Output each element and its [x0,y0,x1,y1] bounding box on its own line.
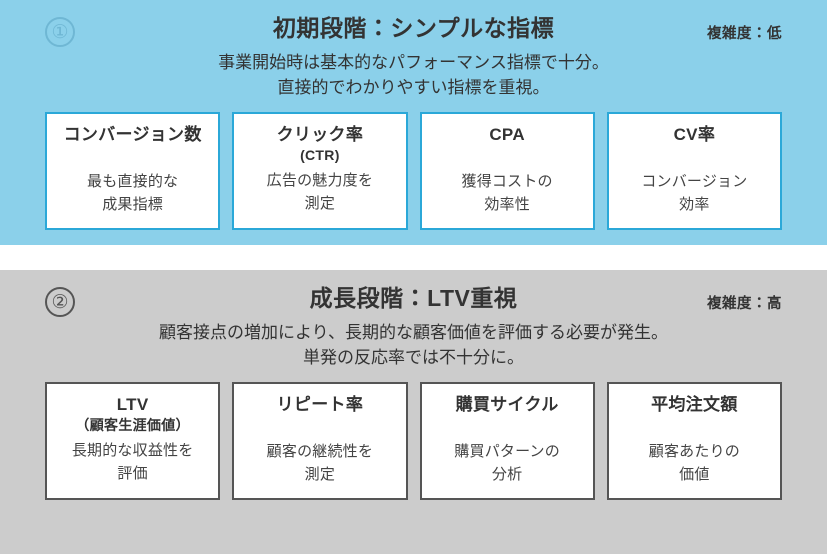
metric-card-title: コンバージョン数 [64,124,202,146]
stage-1-description: 事業開始時は基本的なパフォーマンス指標で十分。 直接的でわかりやすい指標を重視。 [0,50,827,100]
metric-card-title: 平均注文額 [651,394,738,416]
metric-card-description-line-1: 広告の魅力度を [267,169,373,192]
stage-2-card-row: LTV （顧客生涯価値） 長期的な収益性を 評価 リピート率 顧客の継続性を 測… [0,382,827,500]
stage-section-2: ② 成長段階：LTV重視 複雑度：高 顧客接点の増加により、長期的な顧客価値を評… [0,270,827,554]
metric-card-description-line-2: 測定 [267,192,373,215]
stage-1-card-row: コンバージョン数 最も直接的な 成果指標 クリック率 (CTR) 広告の魅力度を… [0,112,827,230]
stage-1-complexity-badge: 複雑度：低 [707,22,782,43]
metric-card-description-line-1: 購買パターンの [454,440,560,463]
stage-2-number-badge: ② [45,287,75,317]
metric-card-description-line-1: 獲得コストの [462,170,553,193]
metric-card-title: CV率 [674,124,716,146]
metric-card-description-line-2: 効率性 [462,193,553,216]
metric-card-description: 長期的な収益性を 評価 [72,439,194,485]
metric-card-ctr[interactable]: クリック率 (CTR) 広告の魅力度を 測定 [232,112,407,230]
metric-card-description-line-1: 長期的な収益性を [72,439,194,462]
metric-card-title: クリック率 [277,124,364,146]
stage-1-number-badge: ① [45,17,75,47]
metric-card-description-line-1: 最も直接的な [87,170,178,193]
metric-card-description-line-2: 評価 [72,462,194,485]
metric-card-description: 最も直接的な 成果指標 [87,170,178,216]
stage-1-description-line-2: 直接的でわかりやすい指標を重視。 [40,75,787,100]
stage-section-1: ① 初期段階：シンプルな指標 複雑度：低 事業開始時は基本的なパフォーマンス指標… [0,0,827,245]
metric-card-description-line-2: 測定 [267,463,373,486]
metric-card-description-line-2: 価値 [649,463,740,486]
stage-2-complexity-badge: 複雑度：高 [707,292,782,313]
metric-card-subtitle: （顧客生涯価値） [75,416,189,435]
stage-2-title: 成長段階：LTV重視 [0,284,827,312]
section-separator [0,245,827,270]
metric-card-description-line-1: 顧客あたりの [649,440,740,463]
metric-card-description: 顧客の継続性を 測定 [267,440,373,486]
metric-card-cvr[interactable]: CV率 コンバージョン 効率 [607,112,782,230]
metric-card-title: CPA [489,124,525,146]
stage-2-description-line-2: 単発の反応率では不十分に。 [40,345,787,370]
metric-card-description-line-1: 顧客の継続性を [267,440,373,463]
stage-2-description-line-1: 顧客接点の増加により、長期的な顧客価値を評価する必要が発生。 [40,320,787,345]
metric-card-average-order-value[interactable]: 平均注文額 顧客あたりの 価値 [607,382,782,500]
metric-card-description-line-2: 成果指標 [87,193,178,216]
stage-1-header: ① 初期段階：シンプルな指標 複雑度：低 [0,0,827,42]
metric-card-conversions[interactable]: コンバージョン数 最も直接的な 成果指標 [45,112,220,230]
metric-card-repeat-rate[interactable]: リピート率 顧客の継続性を 測定 [232,382,407,500]
metric-card-title: 購買サイクル [456,394,559,416]
metric-card-description: 広告の魅力度を 測定 [267,169,373,215]
metric-card-description-line-1: コンバージョン [641,170,747,193]
metric-card-title: リピート率 [277,394,364,416]
stage-2-header: ② 成長段階：LTV重視 複雑度：高 [0,270,827,312]
metric-card-subtitle: (CTR) [300,146,340,165]
stage-1-description-line-1: 事業開始時は基本的なパフォーマンス指標で十分。 [40,50,787,75]
metric-card-description: 顧客あたりの 価値 [649,440,740,486]
metric-card-title: LTV [117,394,149,416]
metric-card-description: 獲得コストの 効率性 [462,170,553,216]
metric-card-description-line-2: 分析 [454,463,560,486]
metric-card-ltv[interactable]: LTV （顧客生涯価値） 長期的な収益性を 評価 [45,382,220,500]
metric-card-purchase-cycle[interactable]: 購買サイクル 購買パターンの 分析 [420,382,595,500]
metric-card-cpa[interactable]: CPA 獲得コストの 効率性 [420,112,595,230]
metric-card-description: コンバージョン 効率 [641,170,747,216]
metric-card-description-line-2: 効率 [641,193,747,216]
stage-1-title: 初期段階：シンプルな指標 [0,14,827,42]
metric-card-description: 購買パターンの 分析 [454,440,560,486]
stage-2-description: 顧客接点の増加により、長期的な顧客価値を評価する必要が発生。 単発の反応率では不… [0,320,827,370]
